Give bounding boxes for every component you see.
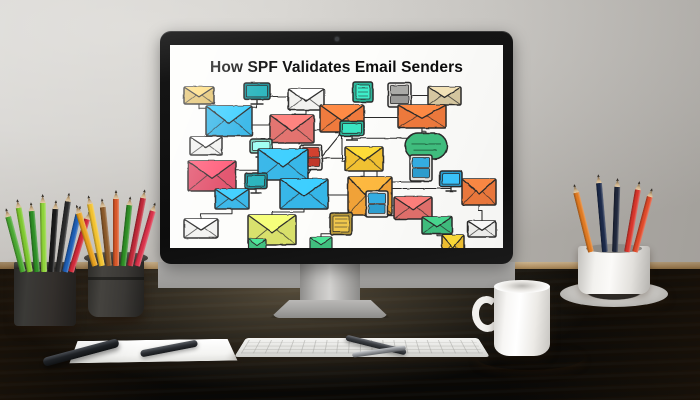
diagram-node-envelope[interactable] <box>184 87 214 104</box>
diagram-node-envelope[interactable] <box>428 87 461 105</box>
diagram-node-envelope[interactable] <box>394 197 432 219</box>
diagram-node-server[interactable] <box>366 191 388 217</box>
diagram-node-server[interactable] <box>410 155 432 181</box>
mug-rim <box>494 280 550 293</box>
coffee-mug[interactable] <box>494 284 550 356</box>
slide-title: How SPF Validates Email Senders <box>170 59 503 77</box>
diagram-node-envelope[interactable] <box>215 189 249 209</box>
diagram-node-document[interactable] <box>330 213 352 235</box>
diagram-node-monitor[interactable] <box>244 83 270 104</box>
monitor-neck <box>300 264 360 306</box>
diagram-node-envelope[interactable] <box>206 106 252 136</box>
monitor-screen[interactable]: How SPF Validates Email Senders <box>170 45 503 248</box>
desktop-monitor[interactable]: How SPF Validates Email Senders <box>160 31 513 264</box>
pencil <box>113 198 119 266</box>
desk-scene-photo: How SPF Validates Email Senders <box>0 0 700 400</box>
diagram-node-monitor[interactable] <box>340 121 364 140</box>
diagram-node-envelope[interactable] <box>422 217 452 234</box>
diagram-node-envelope[interactable] <box>468 221 496 237</box>
diagram-node-badge[interactable] <box>310 237 332 248</box>
diagram-node-document[interactable] <box>353 82 373 102</box>
diagram-node-server[interactable] <box>388 83 411 107</box>
pencil <box>40 202 47 272</box>
monitor-foot <box>270 300 390 318</box>
diagram-node-envelope[interactable] <box>190 137 222 155</box>
webcam-icon <box>335 37 339 41</box>
diagram-node-envelope[interactable] <box>398 105 446 128</box>
diagram-node-envelope[interactable] <box>462 179 496 205</box>
spf-diagram-svg <box>170 79 503 248</box>
diagram-node-envelope[interactable] <box>288 89 324 110</box>
diagram-node-envelope[interactable] <box>270 115 314 143</box>
diagram-node-envelope[interactable] <box>345 147 383 171</box>
diagram-node-envelope[interactable] <box>188 161 236 191</box>
diagram-node-badge[interactable] <box>248 239 266 248</box>
diagram-node-envelope[interactable] <box>280 179 328 209</box>
diagram-node-envelope[interactable] <box>184 219 218 238</box>
spf-diagram-canvas[interactable] <box>170 79 503 248</box>
diagram-node-envelope[interactable] <box>442 235 464 248</box>
